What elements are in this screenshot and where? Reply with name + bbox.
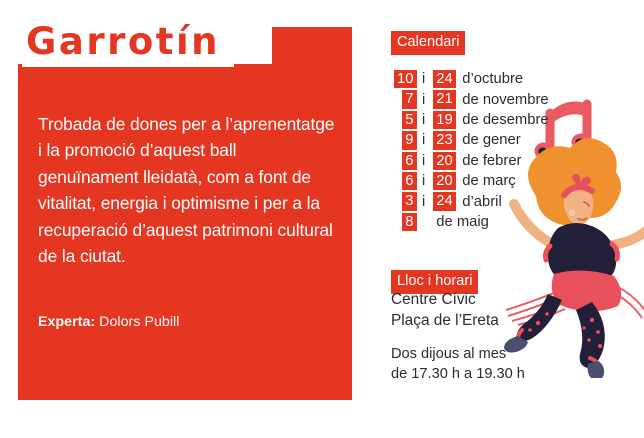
calendar-day-first: 6 [391, 152, 417, 170]
expert-credit: Experta: Dolors Pubill [38, 314, 179, 330]
calendar-day-second: 24 [430, 192, 456, 210]
activity-description: Trobada de dones per a l’aprenentatge i … [38, 111, 338, 269]
calendar-row: 10i24d’octubre [391, 69, 549, 89]
calendar-month-label: d’abril [456, 194, 501, 210]
calendar-day-first: 6 [391, 172, 417, 190]
calendar-heading: Calendari [391, 31, 465, 55]
date-chip: 21 [433, 90, 456, 108]
calendar-day-first: 8 [391, 213, 417, 231]
page-title: Garrotín [22, 19, 234, 67]
calendar-month-label: de maig [430, 214, 489, 230]
calendar-conjunction: i [417, 214, 430, 230]
calendar-month-label: de novembre [456, 92, 548, 108]
schedule-line-2: de 17.30 h a 19.30 h [391, 365, 525, 385]
calendar-day-first: 10 [391, 70, 417, 88]
calendar-row: 3i24d’abril [391, 191, 549, 211]
expert-label: Experta: [38, 314, 95, 330]
calendar-conjunction: i [417, 112, 430, 128]
calendar-conjunction: i [417, 153, 430, 169]
calendar-row: 5i19de desembre [391, 110, 549, 130]
calendar-day-first: 9 [391, 131, 417, 149]
calendar-row: 6i20de febrer [391, 151, 549, 171]
date-chip: 7 [402, 90, 417, 108]
date-chip: 5 [402, 111, 417, 129]
venue-address: Centre Cívic Plaça de l’Ereta [391, 290, 499, 331]
date-chip: 8 [402, 213, 417, 231]
date-chip: 10 [394, 70, 417, 88]
calendar-month-label: de febrer [456, 153, 521, 169]
date-chip: 6 [402, 172, 417, 190]
calendar-month-label: d’octubre [456, 71, 523, 87]
shoe-right [588, 361, 605, 378]
calendar-day-second: 20 [430, 152, 456, 170]
calendar-row: 6i20de març [391, 171, 549, 191]
calendar-heading-badge: Calendari [391, 31, 465, 55]
date-chip: 20 [433, 152, 456, 170]
schedule-info: Dos dijous al mes de 17.30 h a 19.30 h [391, 345, 525, 384]
calendar-list: 10i24d’octubre7i21de novembre5i19de dese… [391, 69, 549, 232]
calendar-day-second: 24 [430, 70, 456, 88]
calendar-month-label: de desembre [456, 112, 548, 128]
date-chip: 24 [433, 192, 456, 210]
calendar-day-second: 20 [430, 172, 456, 190]
calendar-day-first: 3 [391, 192, 417, 210]
details-panel: Calendari 10i24d’octubre7i21de novembre5… [380, 0, 644, 438]
calendar-day-first: 5 [391, 111, 417, 129]
calendar-month-label: de març [456, 173, 515, 189]
date-chip: 20 [433, 172, 456, 190]
activity-panel: Garrotín Trobada de dones per a l’aprene… [0, 0, 380, 438]
calendar-day-second: 23 [430, 131, 456, 149]
expert-name: Dolors Pubill [99, 314, 179, 330]
calendar-day-first: 7 [391, 90, 417, 108]
date-chip: 19 [433, 111, 456, 129]
date-chip: 24 [433, 70, 456, 88]
venue-line-2: Plaça de l’Ereta [391, 311, 499, 332]
calendar-row: 7i21de novembre [391, 89, 549, 109]
poster-canvas: Garrotín Trobada de dones per a l’aprene… [0, 0, 644, 438]
calendar-day-second: 19 [430, 111, 456, 129]
date-chip: 6 [402, 152, 417, 170]
calendar-month-label: de gener [456, 132, 520, 148]
calendar-conjunction: i [417, 132, 430, 148]
venue-line-1: Centre Cívic [391, 290, 499, 311]
calendar-row: 9i23de gener [391, 130, 549, 150]
calendar-day-second: 21 [430, 90, 456, 108]
date-chip: 3 [402, 192, 417, 210]
date-chip: 9 [402, 131, 417, 149]
date-chip: 23 [433, 131, 456, 149]
calendar-conjunction: i [417, 92, 430, 108]
calendar-conjunction: i [417, 194, 430, 210]
schedule-line-1: Dos dijous al mes [391, 345, 525, 365]
calendar-conjunction: i [417, 71, 430, 87]
red-block-tab [272, 27, 352, 67]
calendar-row: 8ide maig [391, 212, 549, 232]
calendar-conjunction: i [417, 173, 430, 189]
